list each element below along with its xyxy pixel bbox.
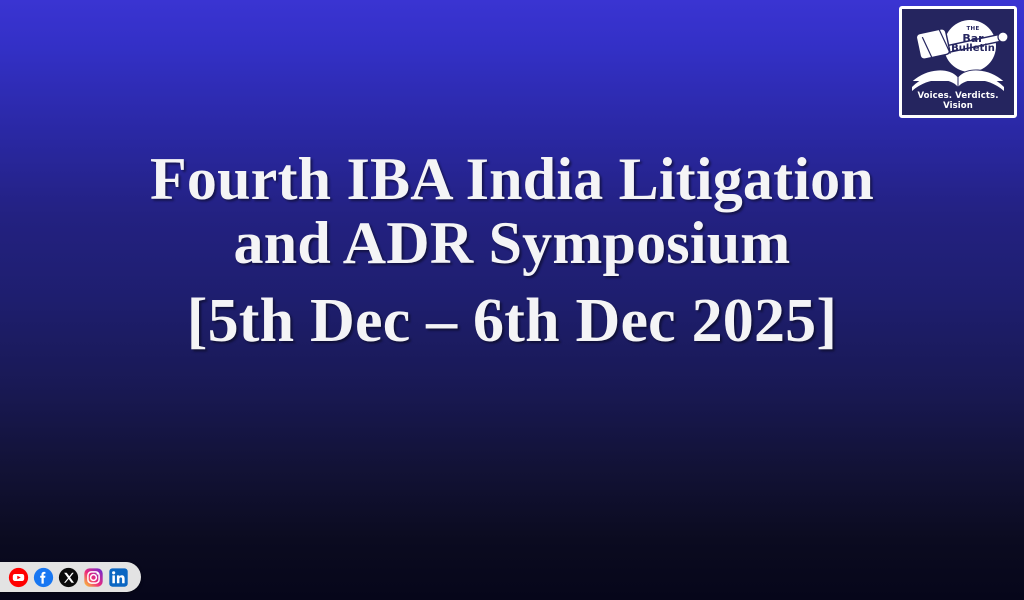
logo-box: THE Bar Bulletin Voices. Verdicts. Visio… [899,6,1017,118]
logo-wordmark: THE Bar Bulletin [950,27,996,54]
facebook-icon[interactable] [33,567,54,588]
event-banner: THE Bar Bulletin Voices. Verdicts. Visio… [0,0,1024,600]
bar-bulletin-logo[interactable]: THE Bar Bulletin Voices. Verdicts. Visio… [899,6,1017,118]
linkedin-icon[interactable] [108,567,129,588]
title-line-2: and ADR Symposium [14,212,1010,276]
banner-headline: Fourth IBA India Litigation and ADR Symp… [0,148,1024,355]
social-links-bar[interactable] [0,562,141,592]
x-twitter-icon[interactable] [58,567,79,588]
instagram-icon[interactable] [83,567,104,588]
logo-bulletin: Bulletin [950,44,996,54]
title-line-1: Fourth IBA India Litigation [14,148,1010,212]
logo-tagline: Voices. Verdicts. Vision [902,91,1014,111]
youtube-icon[interactable] [8,567,29,588]
open-book-icon [912,70,1004,91]
event-dates: [5th Dec – 6th Dec 2025] [14,289,1010,355]
